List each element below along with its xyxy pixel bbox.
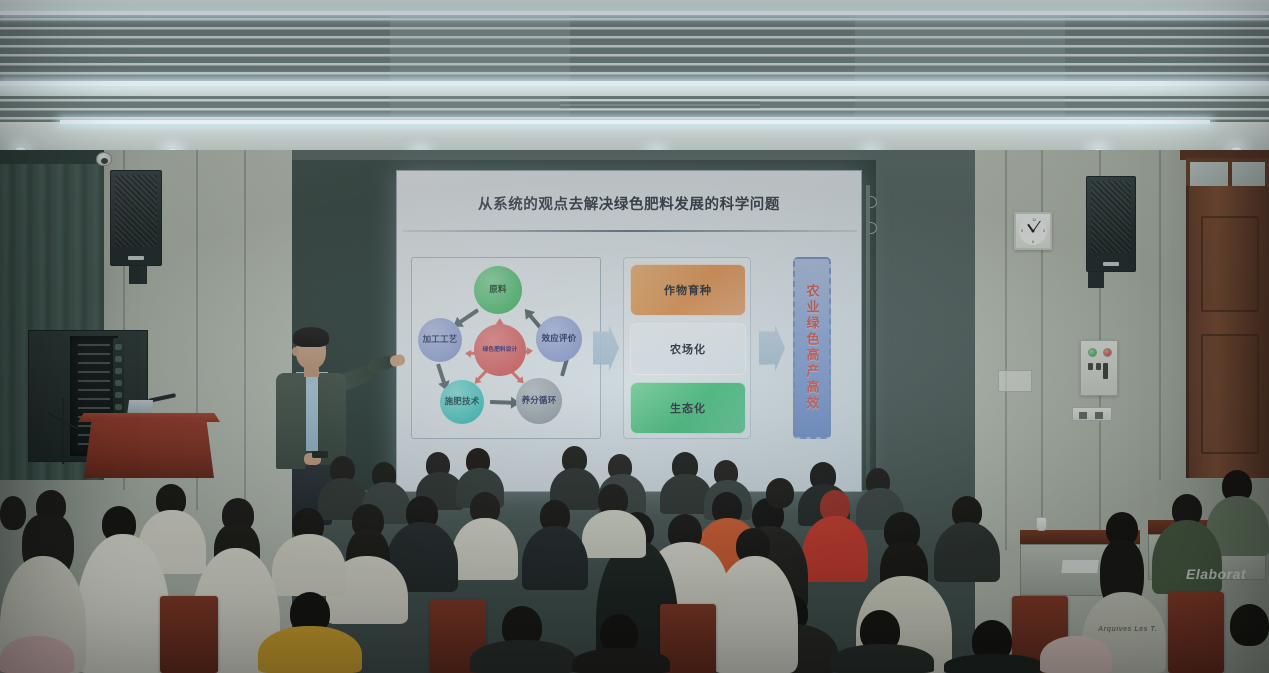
led-strip [60,120,1210,124]
room-door[interactable] [1186,186,1269,478]
speaker-mount [129,266,147,284]
clock-face: 12 3 6 9 [1019,217,1047,245]
outcome-box[interactable]: 农业绿色高产高效 [793,257,831,439]
cycle-node-raw-material[interactable]: 原料 [474,266,522,314]
cycle-node-processing[interactable]: 加工工艺 [418,318,462,362]
drinking-cup [1036,517,1047,531]
ceiling-band [0,0,1269,11]
process-arrow-processing-to-fertilizing [436,363,446,383]
audience-member [272,534,346,596]
wall-plate [998,370,1032,392]
stage-box-farming[interactable]: 农场化 [630,323,746,375]
audience-head [1230,604,1269,646]
wall-speaker-left [110,170,162,266]
presenter-ear [292,347,298,356]
audience-member [452,518,518,580]
podium [84,418,214,478]
stage-box-group: 作物育种 农场化 生态化 [623,257,751,439]
wall-seam [1159,150,1161,480]
audience-member [934,522,1000,582]
wall-control-panel[interactable] [1080,340,1118,396]
speaker-mount [1088,272,1104,288]
paper-sheet [1061,560,1098,573]
presentation-clicker [312,451,328,458]
cycle-diagram-panel: 原料 加工工艺 效应评价 施肥技术 养分循环 绿色肥料设计 [411,257,601,439]
clock-center [1032,230,1035,233]
slide-content: 从系统的观点去解决绿色肥料发展的科学问题 原料 [397,171,861,491]
control-switch[interactable] [1088,363,1093,370]
ceiling-soffit [0,122,1269,150]
cycle-node-fertilization-tech[interactable]: 施肥技术 [440,380,484,424]
audience-member [572,648,670,673]
projection-screen[interactable]: 从系统的观点去解决绿色肥料发展的科学问题 原料 [396,170,862,492]
cycle-node-label: 加工工艺 [423,335,458,344]
jacket-logo-text: Elaborat [1186,566,1246,582]
cycle-node-nutrient-cycle[interactable]: 养分循环 [516,378,562,424]
chevron-arrow-icon [593,325,619,371]
speaker-mesh [1091,181,1131,253]
curtain-rail [0,150,104,164]
cycle-node-label: 施肥技术 [445,397,480,406]
audience-member [944,654,1044,673]
audience-head [0,496,26,530]
process-arrow-fertilizing-to-nutrient [490,400,512,405]
lecture-hall-scene: 从系统的观点去解决绿色肥料发展的科学问题 原料 [0,0,1269,673]
stage-box-crop-breeding[interactable]: 作物育种 [630,264,746,316]
dome-camera-icon [96,152,112,166]
audience-member [522,526,588,590]
led-strip [0,11,1269,15]
slide-divider [403,230,857,232]
cycle-node-effect-evaluation[interactable]: 效应评价 [536,316,582,362]
column-speaker [113,338,124,416]
speaker-mesh [115,175,157,247]
audience-member [1040,636,1112,673]
speaker-badge [1103,262,1119,266]
wall-seam [244,150,246,520]
wall-speaker-right [1086,176,1136,272]
presenter-hair [293,327,329,347]
camera-lens-icon [101,158,108,164]
door-panel [1201,216,1259,312]
control-knob[interactable] [1103,363,1108,379]
power-outlets[interactable] [1072,407,1112,421]
outcome-label: 农业绿色高产高效 [803,284,822,412]
chair [1168,592,1224,673]
cycle-node-label: 养分循环 [522,396,557,405]
audience-member-yellow-coat [258,626,362,673]
cycle-node-label: 效应评价 [542,334,577,343]
wall-seam [1005,150,1007,550]
ceiling [0,0,1269,172]
stage-box-ecological[interactable]: 生态化 [630,382,746,434]
wall-clock: 12 3 6 9 [1014,212,1052,250]
control-button-red[interactable] [1103,348,1112,357]
audience-member [470,640,576,673]
process-arrow-raw-to-processing [459,308,479,324]
presenter-jacket-left [276,373,306,469]
cycle-node-label: 原料 [489,285,506,294]
chair [160,596,218,673]
control-switch[interactable] [1096,363,1101,370]
audience-member [802,516,868,582]
speaker-badge [128,256,144,260]
audience-member [830,644,934,673]
slide-title: 从系统的观点去解决绿色肥料发展的科学问题 [397,193,861,214]
chevron-arrow-icon [759,325,785,371]
cycle-center-label: 绿色肥料设计 [483,347,518,353]
cycle-node-center[interactable]: 绿色肥料设计 [474,324,526,376]
audience-head [766,478,794,508]
led-strip [0,81,1269,86]
ceiling-band [0,86,1269,96]
audience-member [0,636,74,673]
audience-member [582,510,646,558]
control-button-green[interactable] [1088,348,1097,357]
tripod-stand [62,398,64,464]
jacket-logo-text: Arquives Les T. [1098,626,1157,633]
door-panel [1201,334,1259,454]
